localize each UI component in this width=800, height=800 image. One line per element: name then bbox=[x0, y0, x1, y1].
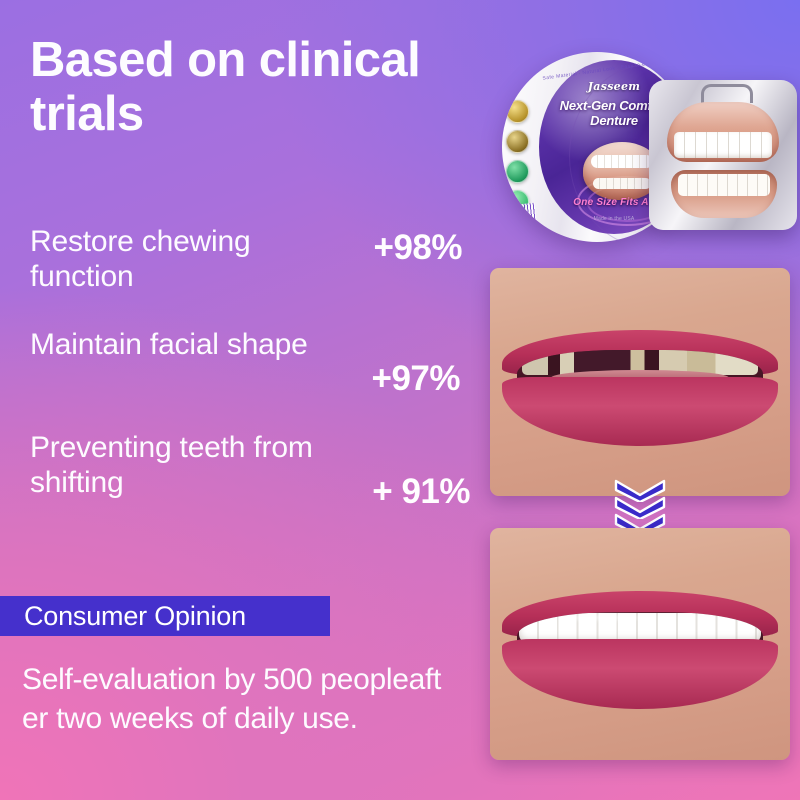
survey-caption: Self-evaluation by 500 peopleaft er two … bbox=[22, 660, 502, 738]
certification-badge-icon bbox=[506, 100, 529, 123]
after-lower-lip bbox=[502, 639, 778, 709]
benefit-row: Restore chewing function +98% bbox=[26, 224, 486, 327]
certification-badges bbox=[506, 100, 534, 220]
benefit-label: Preventing teeth from shifting bbox=[30, 430, 330, 500]
before-face bbox=[490, 268, 790, 496]
before-lower-lip bbox=[502, 377, 778, 445]
headline: Based on clinical trials bbox=[30, 34, 500, 142]
survey-caption-line1: Self-evaluation by 500 peopleaft bbox=[22, 663, 441, 696]
denture-hinge bbox=[701, 84, 753, 103]
after-photo bbox=[490, 528, 790, 760]
certification-badge-icon bbox=[506, 160, 529, 183]
after-face bbox=[490, 528, 790, 760]
benefit-row: Preventing teeth from shifting + 91% bbox=[26, 430, 486, 533]
benefit-row: Maintain facial shape +97% bbox=[26, 327, 486, 430]
benefits-list: Restore chewing function +98% Maintain f… bbox=[26, 224, 486, 533]
certification-badge-icon bbox=[506, 130, 529, 153]
denture-model bbox=[649, 80, 797, 230]
denture-lower-arch bbox=[671, 170, 777, 218]
survey-caption-line2: er two weeks of daily use. bbox=[22, 699, 502, 738]
consumer-opinion-label: Consumer Opinion bbox=[0, 601, 246, 632]
benefit-label: Maintain facial shape bbox=[30, 327, 330, 362]
benefit-percentage: + 91% bbox=[372, 472, 470, 512]
after-upper-teeth bbox=[519, 613, 760, 643]
advertisement-canvas: Based on clinical trials Restore chewing… bbox=[0, 0, 800, 800]
tooth-shine bbox=[558, 615, 640, 620]
before-photo bbox=[490, 268, 790, 496]
product-image: Jasseem Next-Gen Comfort Denture One Siz… bbox=[497, 42, 797, 262]
benefit-percentage: +98% bbox=[374, 228, 463, 268]
benefit-label: Restore chewing function bbox=[30, 224, 330, 294]
barcode-icon bbox=[509, 203, 538, 232]
consumer-opinion-band: Consumer Opinion bbox=[0, 596, 330, 636]
denture-upper-arch bbox=[667, 102, 779, 162]
benefit-percentage: +97% bbox=[372, 359, 461, 399]
